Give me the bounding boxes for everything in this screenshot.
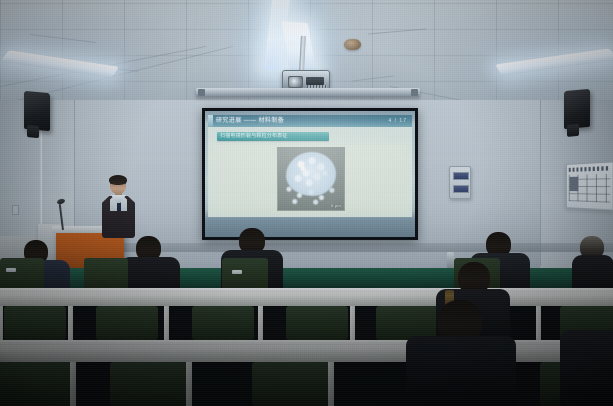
smoke-detector-icon bbox=[344, 39, 361, 50]
control-panel-switch-lower[interactable] bbox=[453, 185, 469, 193]
attendee-torso bbox=[406, 336, 516, 406]
seat-number-tag-1a bbox=[6, 268, 16, 272]
control-panel-switch-upper[interactable] bbox=[453, 172, 469, 180]
chair-back-3a bbox=[0, 362, 74, 406]
chair-post-3a bbox=[70, 362, 76, 406]
wall-information-poster bbox=[566, 161, 613, 210]
projection-screen: 研究进展 —— 材料制备 4 / 17 扫描电镜形貌与颗粒分布表征 5 μm bbox=[202, 108, 418, 240]
slide-header-accent bbox=[208, 115, 213, 127]
chair-back-2b bbox=[96, 306, 158, 340]
attendee-back-center-left bbox=[120, 236, 180, 292]
retractable-screen-housing bbox=[196, 88, 420, 97]
slide-header-bar: 研究进展 —— 材料制备 4 / 17 bbox=[208, 115, 412, 127]
slide-page-indicator: 4 / 17 bbox=[388, 116, 407, 126]
desk-row-2-edge bbox=[0, 288, 613, 292]
wall-conduit-pipe bbox=[40, 126, 43, 238]
micrograph-scale-bar-label: 5 μm bbox=[331, 203, 341, 208]
projection-screen-surface: 研究进展 —— 材料制备 4 / 17 扫描电镜形貌与颗粒分布表征 5 μm bbox=[205, 111, 415, 237]
chair-back-2d bbox=[286, 306, 348, 340]
slide-header-title: 研究进展 —— 材料制备 bbox=[216, 116, 284, 126]
chair-back-3b bbox=[110, 362, 190, 406]
projected-slide: 研究进展 —— 材料制备 4 / 17 扫描电镜形貌与颗粒分布表征 5 μm bbox=[208, 115, 412, 217]
attendee-torso bbox=[560, 330, 613, 406]
seat-number-tag-1c bbox=[232, 270, 242, 274]
desk-row-3-edge bbox=[0, 340, 613, 345]
speaker-bracket-left bbox=[27, 125, 39, 138]
wall-speaker-right bbox=[564, 89, 590, 129]
slide-section-banner: 扫描电镜形貌与颗粒分布表征 bbox=[217, 132, 329, 141]
av-wall-control-panel[interactable] bbox=[449, 166, 471, 199]
screen-housing-cap-right bbox=[411, 89, 418, 96]
wall-speaker-left bbox=[24, 91, 50, 131]
attendee-back-far-right bbox=[572, 236, 613, 290]
poster-side-block bbox=[570, 177, 579, 191]
poster-header-strip bbox=[569, 166, 611, 172]
sem-micrograph-figure: 5 μm bbox=[278, 148, 344, 210]
attendee-front-far-right bbox=[560, 330, 613, 406]
lecture-hall-photo: 研究进展 —— 材料制备 4 / 17 扫描电镜形貌与颗粒分布表征 5 μm bbox=[0, 0, 613, 406]
chair-back-2c bbox=[192, 306, 254, 340]
chair-post-3b bbox=[186, 362, 192, 406]
wall-outlet-plate bbox=[12, 205, 19, 215]
chair-back-1b bbox=[84, 258, 128, 292]
screen-housing-cap-left bbox=[198, 89, 205, 96]
chair-back-3c bbox=[252, 362, 332, 406]
presenter-hair bbox=[109, 175, 127, 185]
slide-content-area: 5 μm bbox=[214, 145, 406, 213]
chair-post-3c bbox=[328, 362, 334, 406]
speaker-bracket-right bbox=[567, 124, 579, 137]
presenter bbox=[96, 176, 140, 238]
wall-corner-right bbox=[540, 100, 541, 266]
chair-back-2a bbox=[4, 306, 66, 340]
chair-back-1a bbox=[0, 258, 44, 292]
slide-section-banner-label: 扫描电镜形貌与颗粒分布表征 bbox=[220, 132, 288, 141]
chair-back-1c bbox=[222, 258, 268, 292]
attendee-front-right bbox=[406, 300, 516, 406]
micrograph-particle-scatter bbox=[282, 178, 340, 206]
